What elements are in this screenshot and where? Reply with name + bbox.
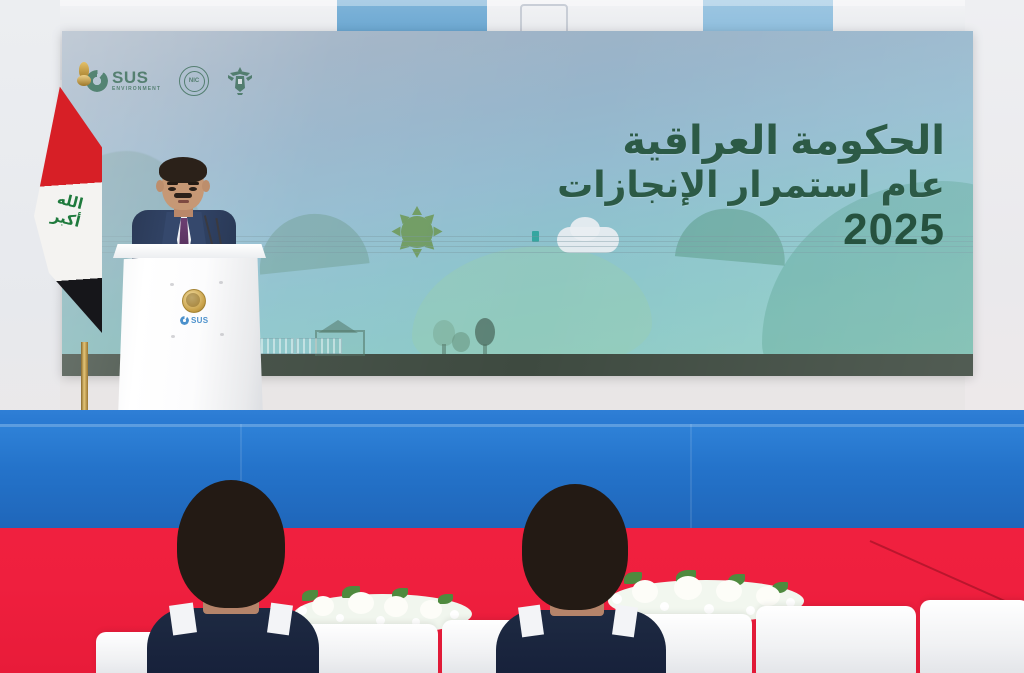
banner-logo-row: SUS ENVIRONMENT NIC <box>86 59 306 103</box>
audience-chair-5 <box>756 606 916 673</box>
flag-finial-ball <box>77 75 91 86</box>
iraq-government-emblem <box>227 66 253 96</box>
podium-screw-br <box>220 333 224 336</box>
podium-top-ledge <box>113 244 266 258</box>
screenshot-root: SUS ENVIRONMENT NIC الحكومة العراقية عام… <box>0 0 1024 673</box>
nic-logo: NIC <box>179 66 209 96</box>
banner-headline: الحكومة العراقية عام استمرار الإنجازات 2… <box>557 119 945 255</box>
stage-edge-highlight <box>0 424 1024 427</box>
seated-attendee-1 <box>165 476 295 673</box>
podium-screw-tr <box>219 281 223 284</box>
speaker-ear-left <box>156 180 164 192</box>
podium-seal-inner <box>186 293 200 307</box>
speaker-moustache <box>174 193 192 198</box>
speaker-eye-left <box>168 187 176 191</box>
headline-year: 2025 <box>557 206 945 254</box>
speaker-mouth <box>178 200 189 203</box>
nic-logo-word: NIC <box>184 71 205 92</box>
speaker-ear-right <box>202 180 210 192</box>
speaker-hair <box>159 157 207 183</box>
speaking-podium <box>118 249 263 418</box>
seated-attendee-2 <box>512 482 642 673</box>
podium-sus-logo: SUS <box>180 314 216 326</box>
eagle-emblem-icon <box>227 66 253 96</box>
speaker-eye-right <box>189 187 197 191</box>
podium-sus-word: SUS <box>191 316 208 325</box>
speaker-brow-right <box>188 182 199 185</box>
headline-line-2: عام استمرار الإنجازات <box>557 164 945 206</box>
flag-cloth <box>34 84 102 379</box>
podium-screw-tl <box>170 283 174 286</box>
podium-screw-bl <box>171 335 175 338</box>
iraq-flag: الله أكبر <box>34 62 110 422</box>
podium-sus-swirl-icon <box>180 316 189 325</box>
audience-chair-6 <box>920 600 1024 673</box>
speaker-brow-left <box>167 182 178 185</box>
sus-logo-word: SUS <box>112 70 161 86</box>
headline-line-1: الحكومة العراقية <box>557 119 945 164</box>
sus-logo-subtitle: ENVIRONMENT <box>112 86 161 92</box>
stage-skirt-fold-2 <box>690 424 692 532</box>
tent-top-rail <box>0 0 1024 6</box>
nic-circle-icon: NIC <box>179 66 209 96</box>
